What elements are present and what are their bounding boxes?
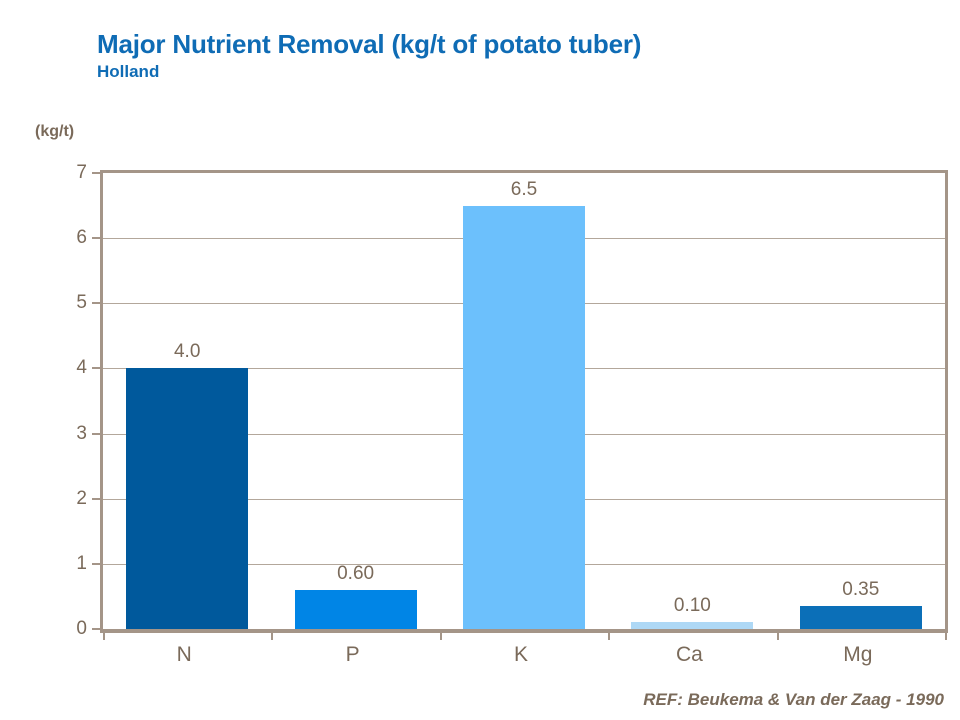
title-block: Major Nutrient Removal (kg/t of potato t… (97, 29, 917, 83)
y-axis-tick-label: 7 (47, 162, 87, 184)
y-axis-tick-label: 6 (47, 227, 87, 249)
y-axis-tick-label: 4 (47, 357, 87, 379)
y-axis-unit-label: (kg/t) (35, 123, 74, 141)
x-axis-tick (271, 629, 273, 640)
bar-value-label-n: 4.0 (127, 341, 247, 363)
page-title: Major Nutrient Removal (kg/t of potato t… (97, 29, 917, 59)
x-axis-tick (777, 629, 779, 640)
bar-mg[interactable] (800, 606, 922, 629)
y-axis-tick (92, 433, 103, 435)
y-axis-tick (92, 563, 103, 565)
y-axis-tick-label: 5 (47, 292, 87, 314)
bar-value-label-ca: 0.10 (632, 595, 752, 617)
y-axis-tick-label: 3 (47, 423, 87, 445)
x-axis-tick (945, 629, 947, 640)
page-subtitle: Holland (97, 61, 917, 83)
y-axis-tick (92, 367, 103, 369)
reference-note: REF: Beukema & Van der Zaag - 1990 (0, 690, 944, 710)
chart-plot-inner: 012345674.00.606.50.100.35 (103, 173, 945, 629)
y-axis-tick (92, 302, 103, 304)
bar-k[interactable] (463, 206, 585, 629)
bar-p[interactable] (295, 590, 417, 629)
bar-value-label-p: 0.60 (296, 563, 416, 585)
x-axis-category-label-k: K (461, 643, 581, 667)
x-axis-category-label-mg: Mg (798, 643, 918, 667)
bar-ca[interactable] (631, 622, 753, 629)
bar-n[interactable] (126, 368, 248, 629)
y-axis-tick-label: 0 (47, 618, 87, 640)
x-axis-category-label-p: P (293, 643, 413, 667)
x-axis-category-label-n: N (124, 643, 244, 667)
chart-plot-area: 012345674.00.606.50.100.35 (100, 170, 948, 633)
y-axis-tick (92, 498, 103, 500)
y-axis-tick (92, 237, 103, 239)
y-axis-tick (92, 172, 103, 174)
bar-value-label-mg: 0.35 (801, 579, 921, 601)
x-axis-tick (440, 629, 442, 640)
x-axis-tick (608, 629, 610, 640)
y-axis-tick-label: 2 (47, 488, 87, 510)
x-axis-tick (103, 629, 105, 640)
y-axis-tick (92, 628, 103, 630)
x-axis-category-label-ca: Ca (629, 643, 749, 667)
y-axis-tick-label: 1 (47, 553, 87, 575)
bar-value-label-k: 6.5 (464, 179, 584, 201)
